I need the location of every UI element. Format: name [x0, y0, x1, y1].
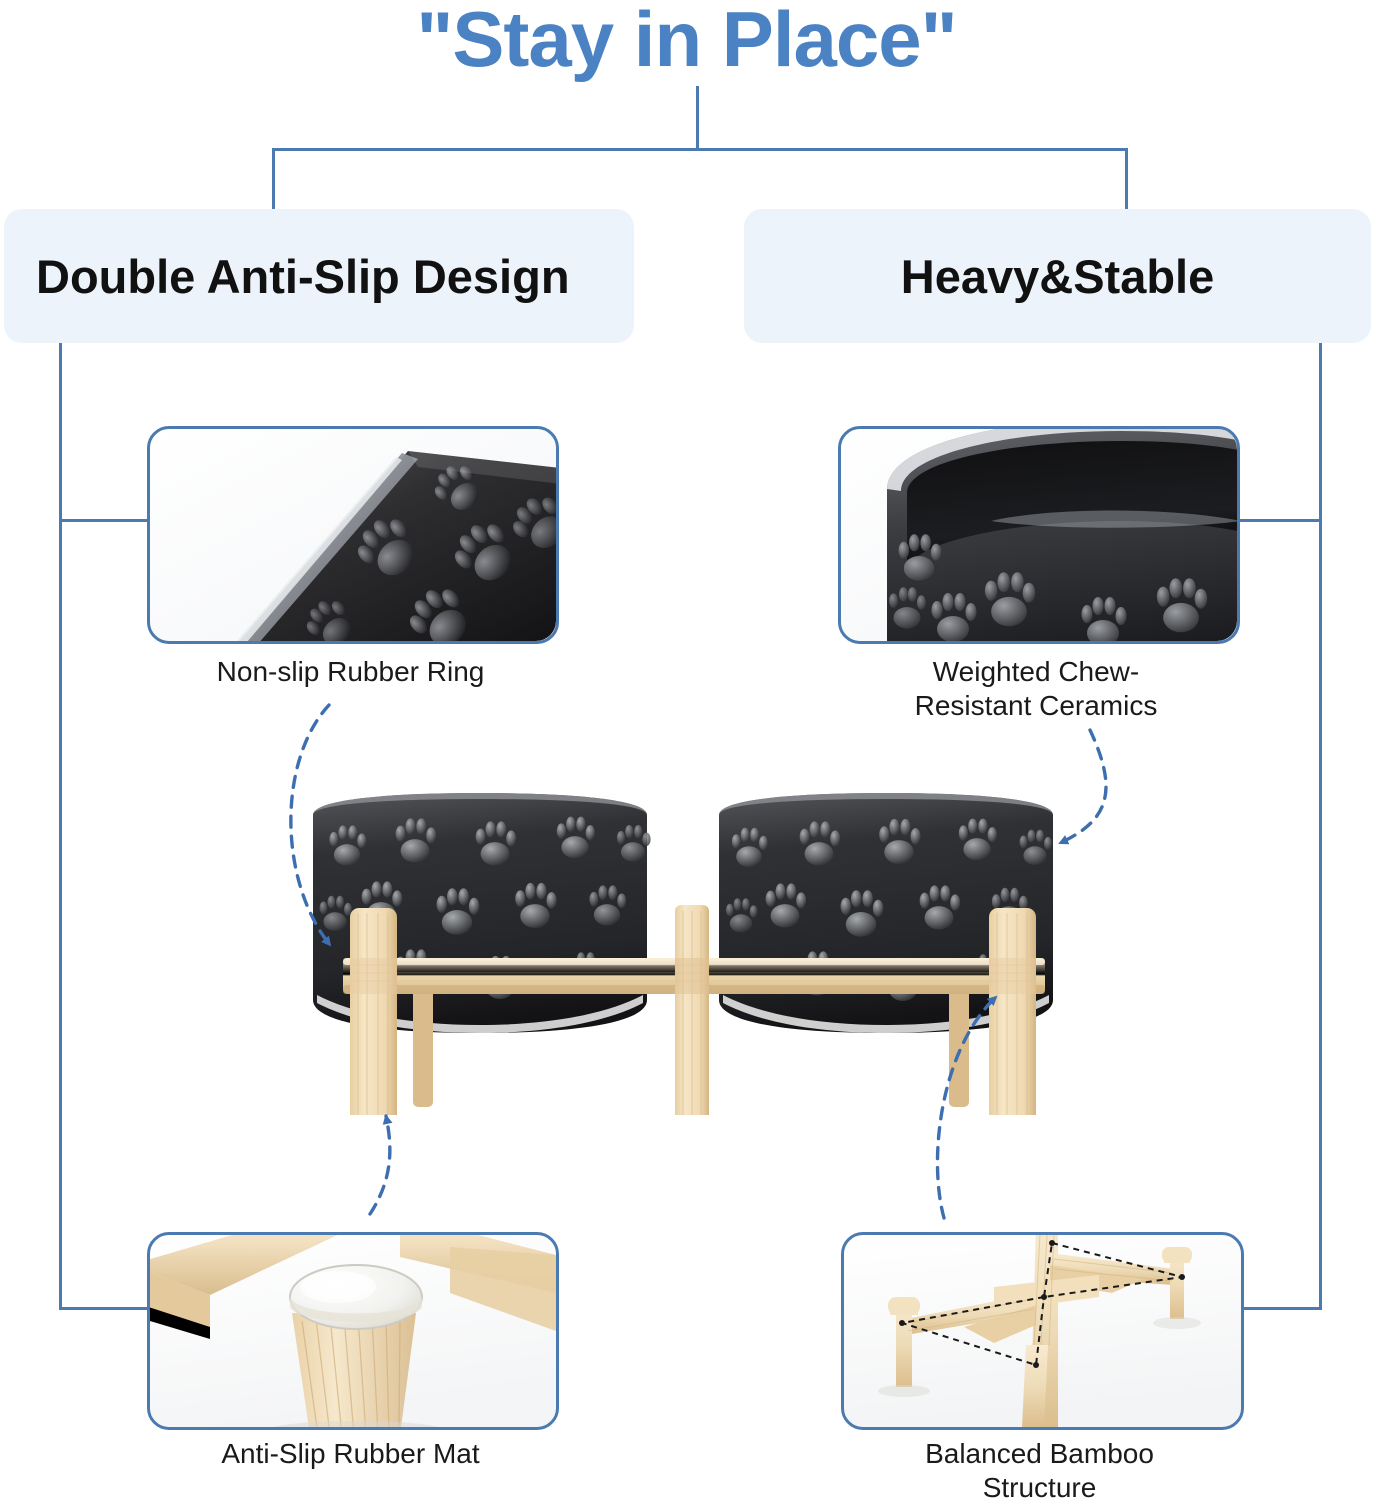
section-header-label: Heavy&Stable	[901, 249, 1215, 304]
caption-text-line2: Resistant Ceramics	[915, 690, 1158, 721]
balanced-bamboo-structure-illustration	[844, 1235, 1241, 1427]
bowl-base-rubber-ring-illustration	[150, 429, 556, 641]
connector-right-branch-vertical	[1319, 343, 1322, 1309]
feature-caption-non-slip-rubber-ring: Non-slip Rubber Ring	[123, 655, 578, 689]
connector-left-drop	[272, 148, 275, 212]
caption-text: Non-slip Rubber Ring	[217, 656, 485, 687]
connector-right-branch-bottom	[1231, 1307, 1322, 1310]
feature-photo-non-slip-rubber-ring	[147, 426, 559, 644]
section-header-label: Double Anti-Slip Design	[36, 249, 570, 304]
section-header-double-anti-slip: Double Anti-Slip Design	[4, 209, 634, 343]
feature-photo-weighted-chew-resistant-ceramics	[838, 426, 1240, 644]
connector-left-branch-vertical	[59, 343, 62, 1309]
weighted-ceramic-bowl-illustration	[841, 429, 1237, 641]
connector-top-span	[272, 148, 1128, 151]
page-title: "Stay in Place"	[0, 0, 1373, 85]
feature-photo-anti-slip-rubber-mat	[147, 1232, 559, 1430]
caption-text-line2: Structure	[983, 1472, 1097, 1503]
hero-product-image	[295, 785, 1085, 1115]
connector-left-branch-bottom	[59, 1307, 151, 1310]
section-header-heavy-stable: Heavy&Stable	[744, 209, 1371, 343]
bamboo-leg-rubber-pad-illustration	[150, 1235, 556, 1427]
connector-right-drop	[1125, 148, 1128, 212]
connector-left-branch-top	[59, 519, 151, 522]
feature-caption-anti-slip-rubber-mat: Anti-Slip Rubber Mat	[123, 1437, 578, 1471]
connector-title-stem	[696, 86, 699, 150]
arrow-to-stand-foot	[370, 1116, 390, 1214]
caption-text-line1: Weighted Chew-	[933, 656, 1139, 687]
feature-caption-balanced-bamboo-structure: Balanced Bamboo Structure	[841, 1437, 1238, 1505]
elevated-double-bowl-stand-illustration	[295, 785, 1085, 1115]
connector-right-branch-top	[1231, 519, 1322, 522]
caption-text-line1: Balanced Bamboo	[925, 1438, 1154, 1469]
feature-photo-balanced-bamboo-structure	[841, 1232, 1244, 1430]
caption-text: Anti-Slip Rubber Mat	[221, 1438, 479, 1469]
feature-caption-weighted-chew-resistant-ceramics: Weighted Chew- Resistant Ceramics	[838, 655, 1234, 723]
